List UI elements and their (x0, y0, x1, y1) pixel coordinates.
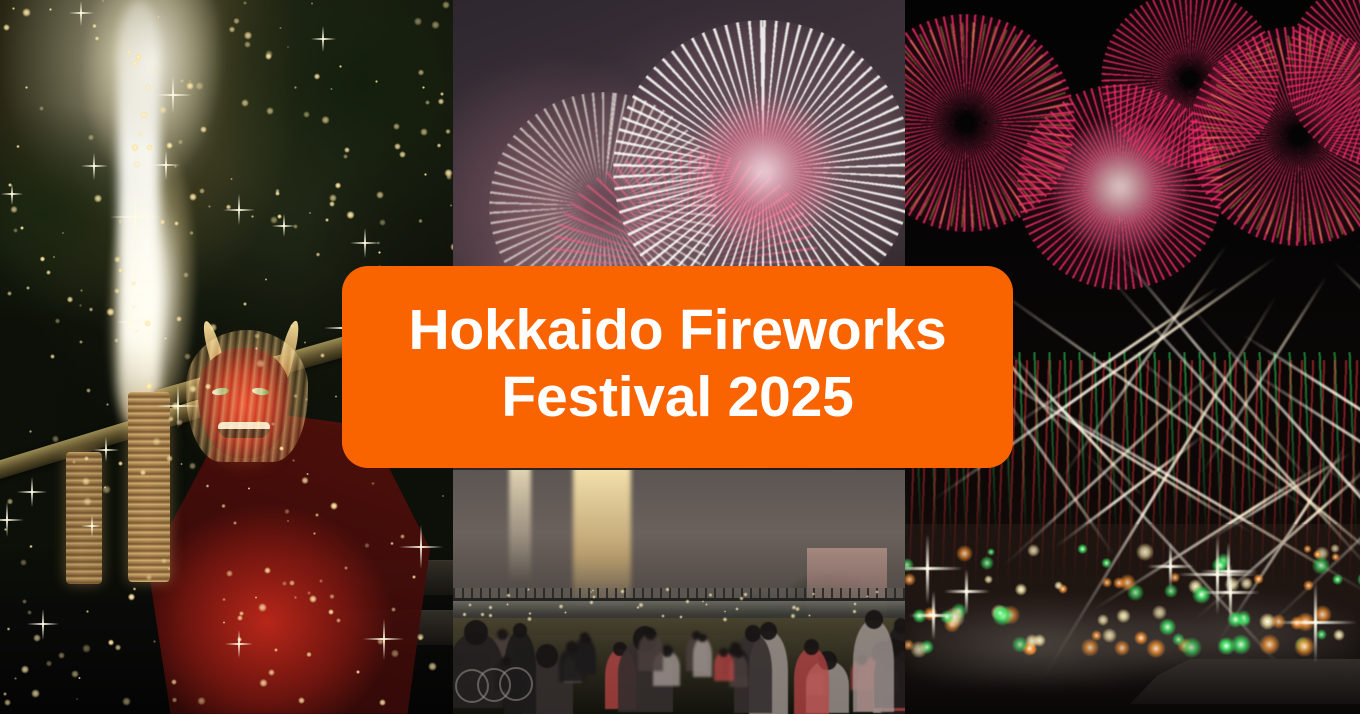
title-line-1: Hokkaido Fireworks (408, 297, 946, 364)
oni-straw-hair (186, 330, 308, 462)
panel-center-riverbank-scene (453, 470, 905, 714)
title-line-2: Festival 2025 (501, 364, 853, 431)
festival-title-banner: Hokkaido Fireworks Festival 2025 (342, 266, 1013, 468)
hero-banner-image: Hokkaido Fireworks Festival 2025 (0, 0, 1360, 714)
tezutsu-tube-primary (128, 392, 170, 582)
golden-waterfall-firework-secondary (509, 470, 531, 582)
spark-jet-core (118, 0, 160, 430)
grass-bank (453, 618, 905, 714)
tezutsu-tube-secondary (66, 452, 102, 584)
